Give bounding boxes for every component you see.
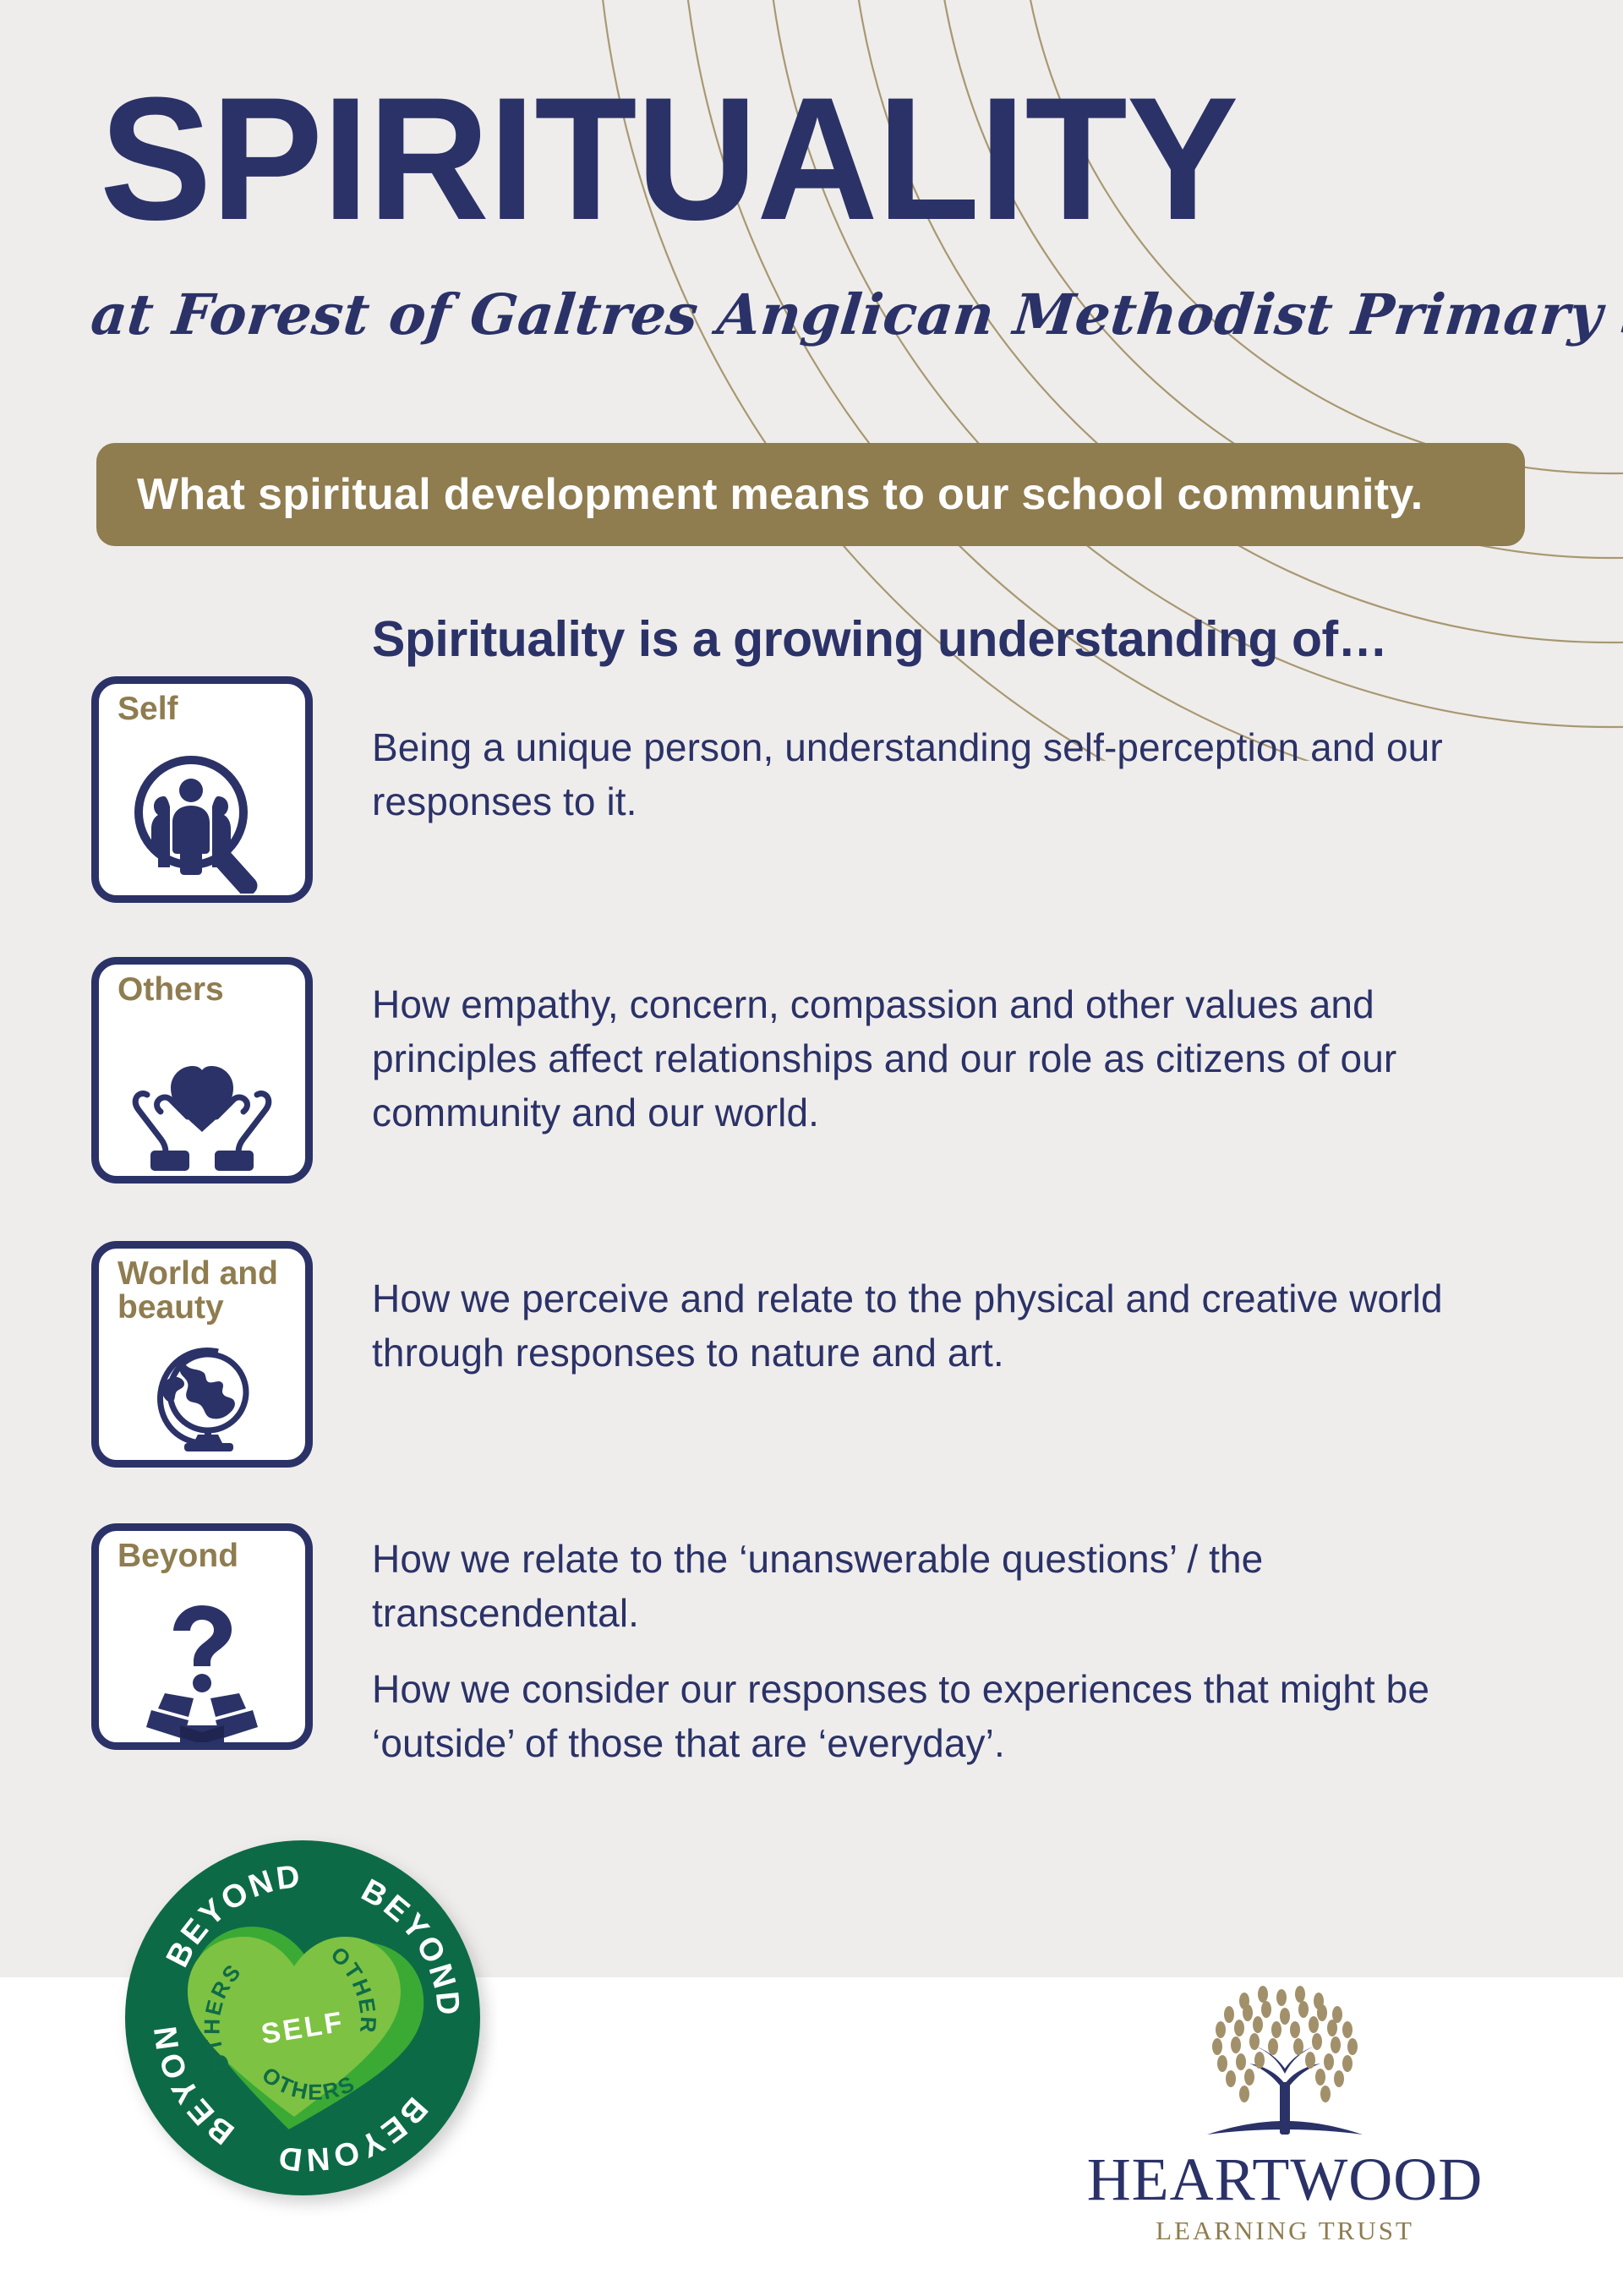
- icon-box-beyond: Beyond: [91, 1523, 313, 1750]
- section-text-self: Being a unique person, understanding sel…: [372, 720, 1505, 828]
- icon-box-others: Others: [91, 957, 313, 1184]
- icon-box-self: Self: [91, 676, 313, 903]
- spirituality-poster: SPIRITUALITY at Forest of Galtres Anglic…: [0, 0, 1623, 2296]
- paragraph: How we consider our responses to experie…: [372, 1662, 1505, 1770]
- hands-holding-heart-icon: [99, 1039, 305, 1174]
- icon-box-world-and-beauty: World and beauty: [91, 1241, 313, 1468]
- spirituality-crest-logo: BEYOND BEYOND BEYOND BEYOND OTHERS OTHER…: [108, 1819, 497, 2217]
- question-mark-box-icon: [99, 1600, 305, 1744]
- main-heading: Spirituality is a growing understanding …: [372, 610, 1387, 668]
- paragraph: How empathy, concern, compassion and oth…: [372, 977, 1505, 1140]
- icon-label-world-and-beauty: World and beauty: [117, 1257, 278, 1325]
- icon-label-self: Self: [117, 692, 178, 726]
- magnifier-people-icon: [99, 750, 305, 894]
- section-text-world-and-beauty: How we perceive and relate to the physic…: [372, 1271, 1505, 1380]
- page-subtitle: at Forest of Galtres Anglican Methodist …: [88, 284, 1533, 345]
- banner: What spiritual development means to our …: [96, 443, 1525, 546]
- heart-tree-icon: [1048, 1982, 1522, 2151]
- paragraph: Being a unique person, understanding sel…: [372, 720, 1505, 828]
- heartwood-tagline: LEARNING TRUST: [1048, 2216, 1522, 2246]
- paragraph: How we relate to the ‘unanswerable quest…: [372, 1532, 1505, 1640]
- page-title: SPIRITUALITY: [100, 74, 1479, 243]
- banner-text: What spiritual development means to our …: [137, 469, 1423, 520]
- icon-label-beyond: Beyond: [117, 1539, 238, 1573]
- heartwood-name: HEARTWOOD: [1048, 2148, 1522, 2211]
- paragraph: How we perceive and relate to the physic…: [372, 1271, 1505, 1380]
- icon-label-others: Others: [117, 973, 224, 1007]
- heartwood-logo: HEARTWOOD LEARNING TRUST: [1048, 1982, 1522, 2244]
- section-text-others: How empathy, concern, compassion and oth…: [372, 977, 1505, 1140]
- section-text-beyond: How we relate to the ‘unanswerable quest…: [372, 1532, 1505, 1770]
- globe-icon: [99, 1340, 305, 1458]
